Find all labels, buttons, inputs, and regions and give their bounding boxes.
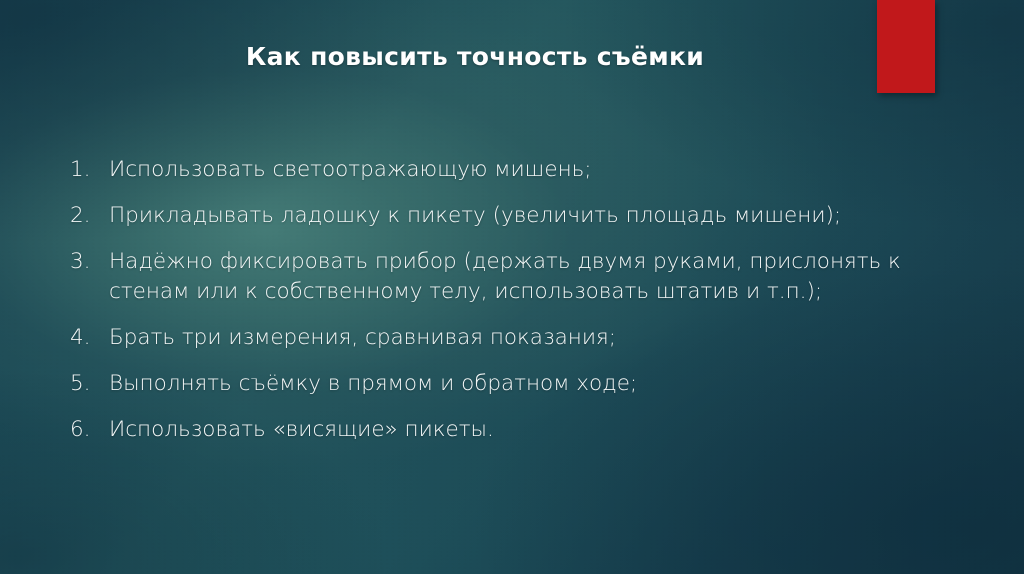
list-item: 2. Прикладывать ладошку к пикету (увелич… — [64, 201, 964, 231]
list-item-text: Использовать «висящие» пикеты. — [109, 415, 964, 445]
list-item-text: Использовать светоотражающую мишень; — [109, 155, 964, 185]
list-item: 5. Выполнять съёмку в прямом и обратном … — [64, 369, 964, 399]
list-item-text: Прикладывать ладошку к пикету (увеличить… — [109, 201, 964, 231]
presentation-slide: Как повысить точность съёмки 1. Использо… — [0, 0, 1024, 574]
list-item: 4. Брать три измерения, сравнивая показа… — [64, 323, 964, 353]
list-item-marker: 4. — [64, 323, 109, 353]
list-item: 1. Использовать светоотражающую мишень; — [64, 155, 964, 185]
numbered-list: 1. Использовать светоотражающую мишень; … — [64, 155, 964, 461]
list-item-marker: 1. — [64, 155, 109, 185]
list-item-text: Надёжно фиксировать прибор (держать двум… — [109, 247, 964, 307]
list-item-marker: 5. — [64, 369, 109, 399]
list-item-text: Брать три измерения, сравнивая показания… — [109, 323, 964, 353]
slide-title: Как повысить точность съёмки — [0, 42, 950, 71]
list-item: 6. Использовать «висящие» пикеты. — [64, 415, 964, 445]
list-item-marker: 3. — [64, 247, 109, 277]
list-item-marker: 2. — [64, 201, 109, 231]
list-item-marker: 6. — [64, 415, 109, 445]
list-item: 3. Надёжно фиксировать прибор (держать д… — [64, 247, 964, 307]
list-item-text: Выполнять съёмку в прямом и обратном ход… — [109, 369, 964, 399]
